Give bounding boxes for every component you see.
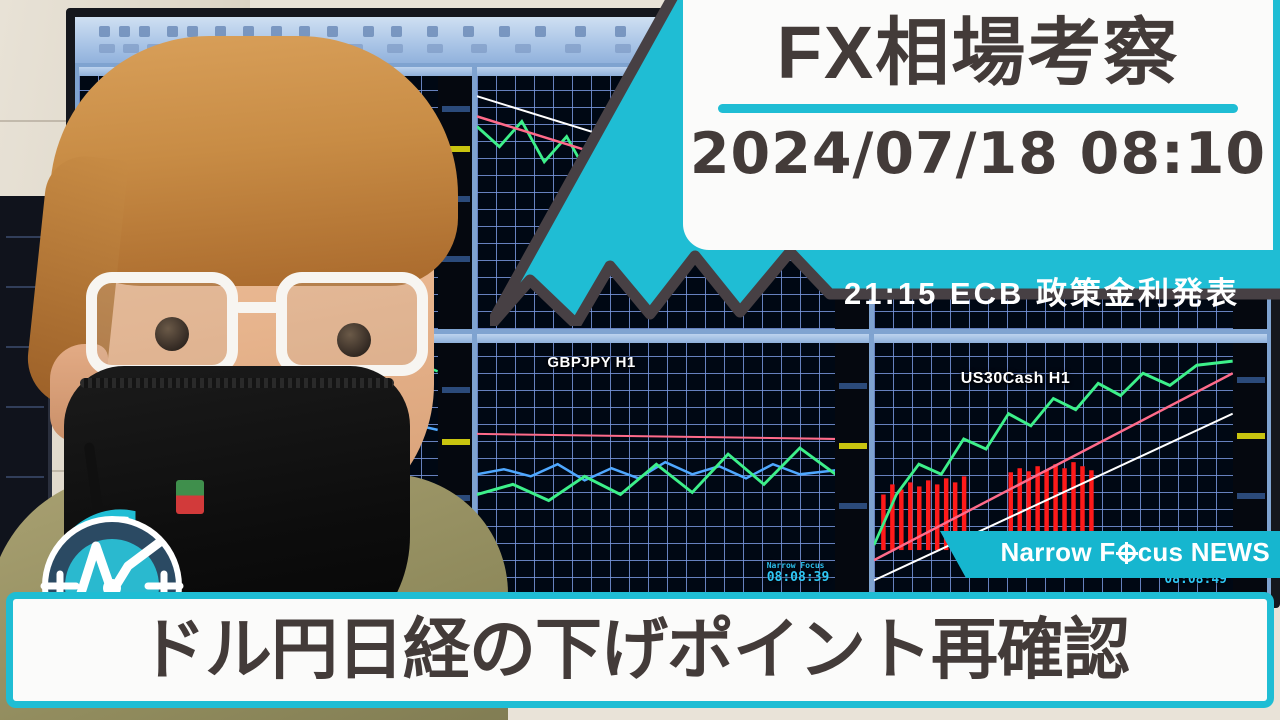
chart-label: GBPJPY H1 — [547, 354, 635, 371]
brand-prefix: Narrow F — [1000, 537, 1115, 567]
page-title: FX相場考察 — [777, 14, 1180, 92]
brand-name: Narrow Fcus NEWS — [966, 537, 1270, 568]
header-title-card: FX相場考察 2024/07/18 08:10 — [683, 0, 1273, 250]
title-divider — [718, 104, 1238, 113]
datetime-label: 2024/07/18 08:10 — [690, 121, 1266, 187]
chart-timestamp: Narrow Focus 08:08:39 — [767, 561, 830, 585]
event-note: 21:15 ECB 政策金利発表 — [248, 268, 1258, 313]
thumbnail-canvas: GOLD H1 Narrow Focus 08:08:4 — [0, 0, 1280, 720]
brand-suffix: cus NEWS — [1138, 537, 1270, 567]
bottom-headline-bar: ドル円日経の下げポイント再確認 — [6, 592, 1274, 708]
target-o-icon — [1116, 542, 1138, 564]
brand-strip: Narrow Fcus NEWS — [966, 531, 1280, 578]
headline-text: ドル円日経の下げポイント再確認 — [139, 617, 1259, 684]
chart-pane[interactable]: GBPJPY H1 Narrow Focus 08:08:39 — [477, 334, 870, 596]
chart-label: US30Cash H1 — [961, 370, 1071, 388]
presenter-hair — [50, 36, 458, 286]
chart-watermark: Narrow Focus — [767, 561, 830, 570]
